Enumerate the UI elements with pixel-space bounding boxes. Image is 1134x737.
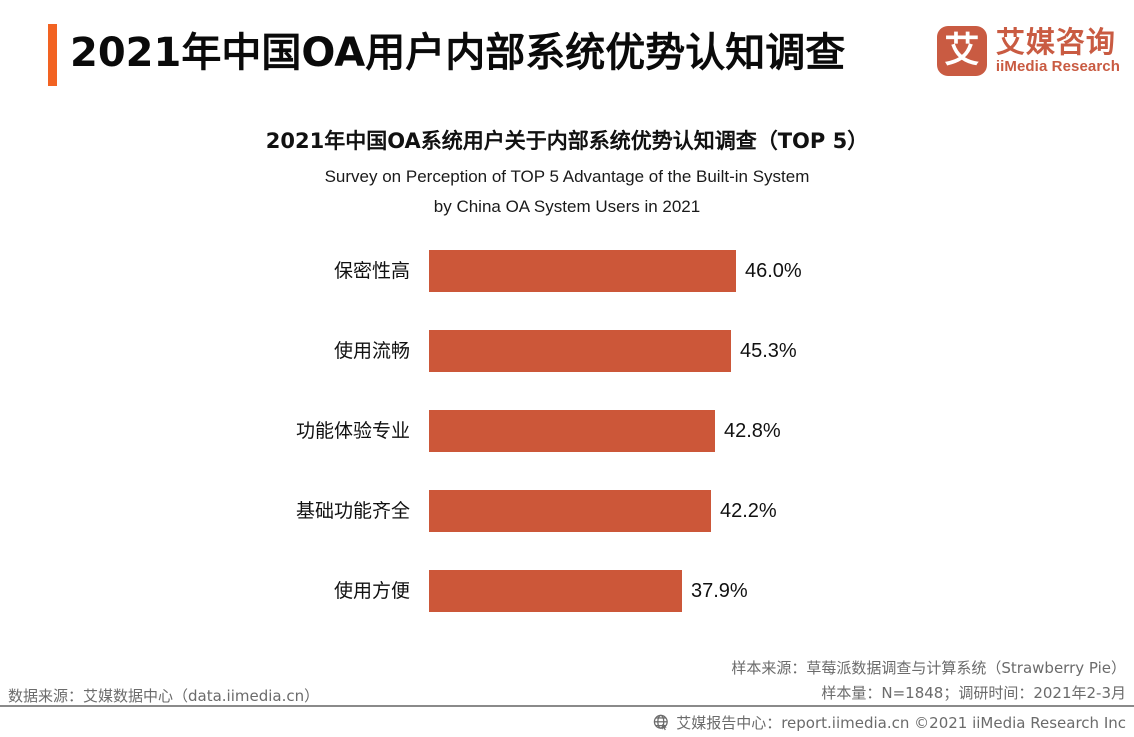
bar-row: 保密性高46.0% xyxy=(0,250,1134,292)
bar-category-label: 功能体验专业 xyxy=(180,410,410,452)
bar-rect[interactable] xyxy=(429,570,682,612)
bar-value-label: 42.8% xyxy=(724,410,781,452)
report-center-text: 艾媒报告中心：report.iimedia.cn ©2021 iiMedia R… xyxy=(676,712,1126,733)
chart-title-block: 2021年中国OA系统用户关于内部系统优势认知调查（TOP 5） Survey … xyxy=(0,126,1134,222)
chart-subtitle-line2: by China OA System Users in 2021 xyxy=(0,192,1134,222)
brand-logo-text: 艾媒咨询 iiMedia Research xyxy=(996,27,1120,75)
bar-value-label: 37.9% xyxy=(691,570,748,612)
chart-page: 2021年中国OA用户内部系统优势认知调查 艾 艾媒咨询 iiMedia Res… xyxy=(0,0,1134,737)
bar-rect[interactable] xyxy=(429,490,711,532)
sample-size-note: 样本量：N=1848；调研时间：2021年2-3月 xyxy=(821,682,1126,703)
bar-rect[interactable] xyxy=(429,250,736,292)
report-center-note: 艾媒报告中心：report.iimedia.cn ©2021 iiMedia R… xyxy=(653,712,1126,733)
bar-value-label: 42.2% xyxy=(720,490,777,532)
brand-name-en: iiMedia Research xyxy=(996,58,1120,75)
page-footer: 数据来源：艾媒数据中心（data.iimedia.cn） 样本来源：草莓派数据调… xyxy=(0,640,1134,737)
brand-logo: 艾 艾媒咨询 iiMedia Research xyxy=(937,26,1120,76)
bar-category-label: 使用流畅 xyxy=(180,330,410,372)
bar-value-label: 46.0% xyxy=(745,250,802,292)
bar-chart-plot: 保密性高46.0%使用流畅45.3%功能体验专业42.8%基础功能齐全42.2%… xyxy=(0,243,1134,643)
bar-row: 使用方便37.9% xyxy=(0,570,1134,612)
bar-row: 使用流畅45.3% xyxy=(0,330,1134,372)
bar-value-label: 45.3% xyxy=(740,330,797,372)
bar-rect[interactable] xyxy=(429,330,731,372)
brand-name-cn: 艾媒咨询 xyxy=(996,27,1120,58)
chart-title: 2021年中国OA系统用户关于内部系统优势认知调查（TOP 5） xyxy=(0,126,1134,156)
globe-icon xyxy=(653,714,670,731)
bar-category-label: 使用方便 xyxy=(180,570,410,612)
footer-divider xyxy=(0,705,1134,707)
page-header: 2021年中国OA用户内部系统优势认知调查 艾 艾媒咨询 iiMedia Res… xyxy=(0,0,1134,105)
bar-category-label: 保密性高 xyxy=(180,250,410,292)
data-source-note: 数据来源：艾媒数据中心（data.iimedia.cn） xyxy=(8,685,319,706)
bar-category-label: 基础功能齐全 xyxy=(180,490,410,532)
header-accent-bar xyxy=(48,24,57,86)
bar-row: 基础功能齐全42.2% xyxy=(0,490,1134,532)
bar-row: 功能体验专业42.8% xyxy=(0,410,1134,452)
sample-source-note: 样本来源：草莓派数据调查与计算系统（Strawberry Pie） xyxy=(731,657,1126,678)
page-title: 2021年中国OA用户内部系统优势认知调查 xyxy=(70,22,845,84)
chart-subtitle-line1: Survey on Perception of TOP 5 Advantage … xyxy=(0,162,1134,192)
iimedia-logo-icon: 艾 xyxy=(937,26,987,76)
bar-rect[interactable] xyxy=(429,410,715,452)
